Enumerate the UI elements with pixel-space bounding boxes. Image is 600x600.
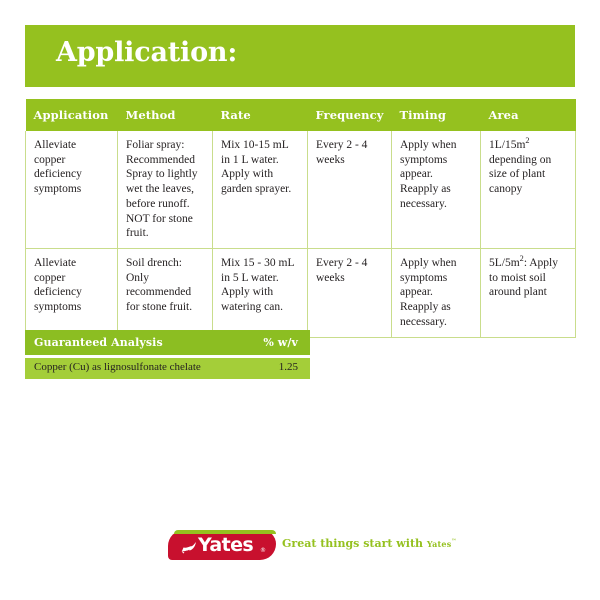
page-title: Application: (56, 37, 237, 68)
footer-tagline: Great things start with Yates™ (282, 537, 456, 550)
table-row: Alleviate copper deficiency symptoms Fol… (26, 131, 576, 249)
tagline-brand: Yates (427, 539, 452, 549)
cell-application: Alleviate copper deficiency symptoms (26, 131, 118, 249)
cell-timing: Apply when symptoms appear. Reapply as n… (392, 131, 481, 249)
cell-area-value: 1L/15m (489, 139, 525, 151)
guaranteed-analysis-row: Copper (Cu) as lignosulfonate chelate 1.… (25, 355, 310, 379)
cell-method: Soil drench: Only recommended for stone … (118, 249, 213, 338)
logo-wordmark: Yates (198, 534, 253, 556)
application-table-header-row: Application Method Rate Frequency Timing… (26, 99, 576, 131)
cell-area: 1L/15m2 depending on size of plant canop… (481, 131, 576, 249)
cell-area: 5L/5m2: Apply to moist soil around plant (481, 249, 576, 338)
logo-registered-mark: ® (260, 547, 266, 554)
guaranteed-analysis-ingredient: Copper (Cu) as lignosulfonate chelate (25, 355, 232, 379)
guaranteed-analysis-header-label: Guaranteed Analysis (25, 330, 232, 355)
leaf-icon (180, 538, 198, 554)
column-header-application: Application (26, 99, 118, 131)
cell-area-value: 5L/5m (489, 257, 520, 269)
yates-logo: Yates ® (168, 530, 276, 564)
cell-frequency: Every 2 - 4 weeks (308, 249, 392, 338)
cell-frequency: Every 2 - 4 weeks (308, 131, 392, 249)
footer: Yates ® Great things start with Yates™ (0, 528, 600, 574)
column-header-frequency: Frequency (308, 99, 392, 131)
table-row: Alleviate copper deficiency symptoms Soi… (26, 249, 576, 338)
column-header-rate: Rate (213, 99, 308, 131)
guaranteed-analysis-header-value: % w/v (232, 330, 310, 355)
guaranteed-analysis-header-row: Guaranteed Analysis % w/v (25, 330, 310, 355)
application-table: Application Method Rate Frequency Timing… (25, 99, 576, 338)
cell-method: Foliar spray: Recommended Spray to light… (118, 131, 213, 249)
cell-rate: Mix 10-15 mL in 1 L water. Apply with ga… (213, 131, 308, 249)
column-header-timing: Timing (392, 99, 481, 131)
tagline-prefix: Great things start with (282, 537, 427, 550)
column-header-method: Method (118, 99, 213, 131)
guaranteed-analysis-amount: 1.25 (232, 355, 310, 379)
application-title-banner: Application: (25, 25, 575, 87)
cell-rate: Mix 15 - 30 mL in 5 L water. Apply with … (213, 249, 308, 338)
cell-area-unit: 2 (525, 136, 529, 145)
cell-application: Alleviate copper deficiency symptoms (26, 249, 118, 338)
guaranteed-analysis-divider (25, 355, 310, 358)
cell-area-rest: depending on size of plant canopy (489, 154, 551, 195)
tagline-trademark: ™ (451, 538, 456, 544)
cell-timing: Apply when symptoms appear. Reapply as n… (392, 249, 481, 338)
column-header-area: Area (481, 99, 576, 131)
document-page: Application: Application Method Rate Fre… (0, 0, 600, 600)
